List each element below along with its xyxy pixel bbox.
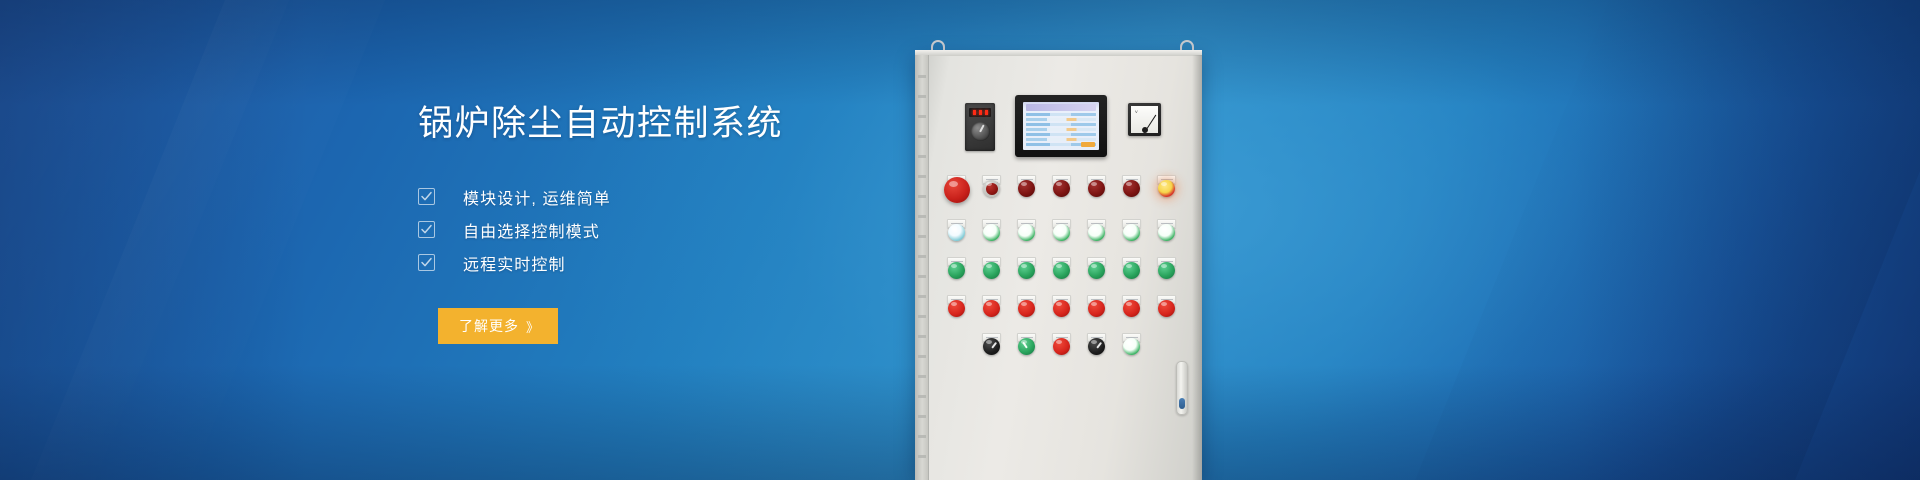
lamp[interactable] [1123, 338, 1140, 355]
feature-item: 自由选择控制模式 [418, 213, 938, 246]
alarm-indicator-4[interactable] [1079, 175, 1114, 203]
hmi-screen-title-bar [1026, 104, 1096, 111]
feature-label: 模块设计, 运维简单 [463, 185, 611, 209]
lamp[interactable] [1018, 180, 1035, 197]
lamp[interactable] [948, 300, 965, 317]
stop-button-1[interactable] [939, 295, 974, 317]
lamp[interactable] [1158, 262, 1175, 279]
hmi-touch-panel[interactable] [1015, 95, 1107, 157]
rotary-dial-icon[interactable] [971, 122, 990, 141]
lamp[interactable] [1018, 224, 1035, 241]
lamp[interactable] [1158, 300, 1175, 317]
lamp[interactable] [1053, 338, 1070, 355]
selector-switch-2[interactable] [1009, 333, 1044, 355]
emergency-stop-button[interactable] [939, 175, 974, 203]
hero-banner: 锅炉除尘自动控制系统 模块设计, 运维简单 自由选择控制模式 [0, 0, 1920, 480]
stop-button-6[interactable] [1114, 295, 1149, 317]
lamp[interactable] [1053, 224, 1070, 241]
hmi-screen-action-button[interactable] [1081, 142, 1095, 147]
meter-unit-label: V [1135, 109, 1138, 114]
knob[interactable] [1088, 338, 1105, 355]
lamp[interactable] [1088, 262, 1105, 279]
alarm-indicator-3[interactable] [1044, 175, 1079, 203]
feature-label: 自由选择控制模式 [463, 218, 600, 242]
lamp[interactable] [1123, 300, 1140, 317]
background-shadow-streak [1351, 0, 1920, 480]
lamp[interactable] [948, 262, 965, 279]
button-row [939, 257, 1189, 279]
lamp[interactable] [1088, 224, 1105, 241]
lamp[interactable] [983, 224, 1000, 241]
lamp[interactable] [1123, 262, 1140, 279]
status-lamp-6[interactable] [1114, 219, 1149, 241]
cabinet-top-lip [915, 50, 1202, 56]
alarm-indicator-2[interactable] [1009, 175, 1044, 203]
lamp[interactable] [1018, 262, 1035, 279]
lamp[interactable] [1088, 300, 1105, 317]
knob[interactable] [983, 338, 1000, 355]
feature-label: 远程实时控制 [463, 251, 566, 275]
hmi-screen[interactable] [1023, 102, 1099, 150]
checkbox-check-icon [418, 188, 435, 205]
checkbox-check-icon [418, 221, 435, 238]
stop-button-2[interactable] [974, 295, 1009, 317]
checkbox-check-icon [418, 254, 435, 271]
status-lamp-4[interactable] [1044, 219, 1079, 241]
alarm-indicator-5[interactable] [1114, 175, 1149, 203]
lamp[interactable] [1088, 180, 1105, 197]
start-button-5[interactable] [1079, 257, 1114, 279]
meter-face: V [1131, 106, 1158, 133]
lamp[interactable] [1053, 300, 1070, 317]
lamp[interactable] [983, 262, 1000, 279]
lamp[interactable] [983, 180, 1000, 197]
start-button-4[interactable] [1044, 257, 1079, 279]
learn-more-label: 了解更多 [459, 316, 519, 336]
start-button-3[interactable] [1009, 257, 1044, 279]
cabinet-body: V [915, 55, 1202, 480]
background-light-streak [0, 0, 434, 480]
lamp[interactable] [944, 177, 970, 203]
button-row [939, 219, 1189, 241]
selector-switch-5[interactable] [1114, 333, 1149, 355]
lamp[interactable] [1158, 180, 1175, 197]
start-button-2[interactable] [974, 257, 1009, 279]
learn-more-button[interactable]: 了解更多 》 [438, 308, 558, 344]
start-button-7[interactable] [1149, 257, 1184, 279]
lamp[interactable] [948, 224, 965, 241]
matrix-spacer [939, 333, 974, 355]
selector-switch-1[interactable] [974, 333, 1009, 355]
knob[interactable] [1018, 338, 1035, 355]
cabinet-right-edge-shading [1192, 55, 1202, 480]
start-button-1[interactable] [939, 257, 974, 279]
banner-copy-block: 锅炉除尘自动控制系统 模块设计, 运维简单 自由选择控制模式 [418, 103, 938, 344]
feature-item: 模块设计, 运维简单 [418, 180, 938, 213]
page-title: 锅炉除尘自动控制系统 [418, 103, 938, 145]
stop-button-4[interactable] [1044, 295, 1079, 317]
lamp[interactable] [1158, 224, 1175, 241]
stop-button-7[interactable] [1149, 295, 1184, 317]
analog-panel-meter: V [1128, 103, 1161, 136]
lamp[interactable] [983, 300, 1000, 317]
stop-button-5[interactable] [1079, 295, 1114, 317]
chevron-right-icon: 》 [526, 317, 537, 336]
feature-item: 远程实时控制 [418, 246, 938, 279]
meter-hub [1142, 127, 1148, 133]
control-button-matrix [939, 175, 1189, 371]
status-lamp-1[interactable] [939, 219, 974, 241]
button-row [939, 175, 1189, 203]
feature-list: 模块设计, 运维简单 自由选择控制模式 远程实时控制 [418, 180, 938, 279]
lamp[interactable] [1053, 180, 1070, 197]
start-button-6[interactable] [1114, 257, 1149, 279]
stop-button-3[interactable] [1009, 295, 1044, 317]
status-lamp-3[interactable] [1009, 219, 1044, 241]
lamp[interactable] [1123, 224, 1140, 241]
selector-switch-4[interactable] [1079, 333, 1114, 355]
lamp[interactable] [1123, 180, 1140, 197]
lamp[interactable] [1018, 300, 1035, 317]
button-row [939, 295, 1189, 317]
background-light-streak [0, 0, 321, 480]
alarm-indicator-active[interactable] [1149, 175, 1184, 203]
led-digit-display [969, 108, 991, 117]
alarm-indicator-1[interactable] [974, 175, 1009, 203]
status-lamp-7[interactable] [1149, 219, 1184, 241]
control-cabinet-image: V [905, 0, 1225, 480]
button-row [939, 333, 1189, 355]
cabinet-door-handle[interactable] [1176, 361, 1188, 415]
status-lamp-2[interactable] [974, 219, 1009, 241]
matrix-spacer [1149, 333, 1184, 355]
vfd-keypad-module[interactable] [965, 103, 995, 151]
status-lamp-5[interactable] [1079, 219, 1114, 241]
lamp[interactable] [1053, 262, 1070, 279]
selector-switch-3[interactable] [1044, 333, 1079, 355]
